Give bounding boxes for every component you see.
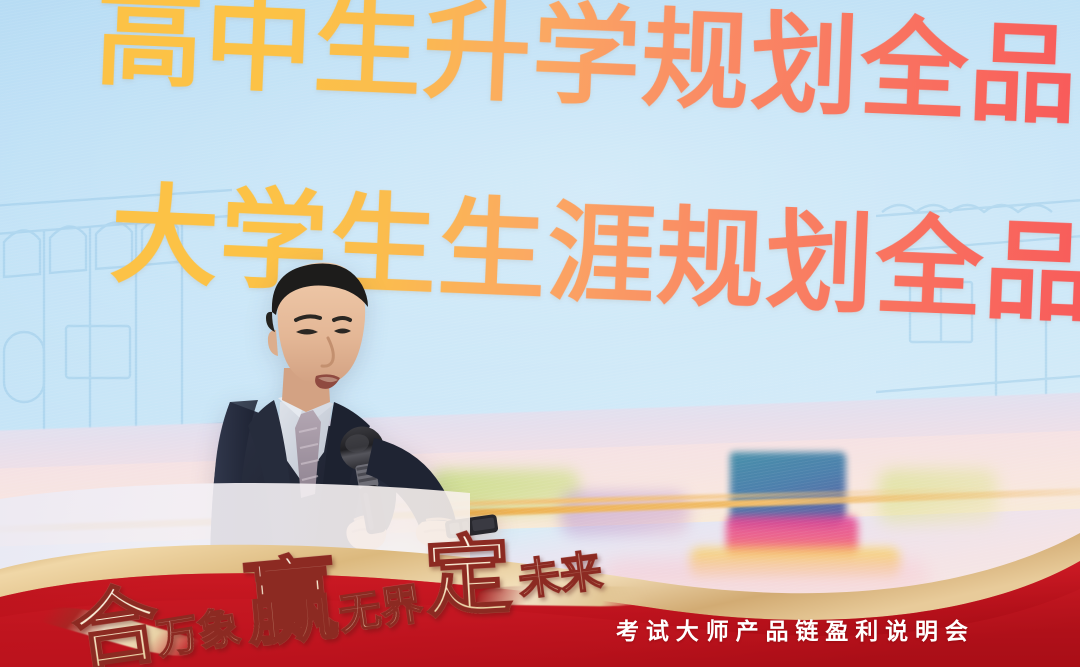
screenshot-stage: 高中生升学规划全品系 大学生生涯规划全品系 bbox=[0, 0, 1080, 667]
slogan-char-ding: 定 bbox=[421, 504, 514, 634]
slogan-word-weilai: 未来 bbox=[514, 537, 605, 608]
slogan-char-ying: 赢 bbox=[239, 523, 343, 664]
slogan-word-wanxiang: 万象 bbox=[151, 593, 244, 667]
banner-subtitle: 考试大师产品链盈利说明会 bbox=[616, 612, 975, 646]
slogan-word-wujie: 无界 bbox=[334, 570, 426, 642]
